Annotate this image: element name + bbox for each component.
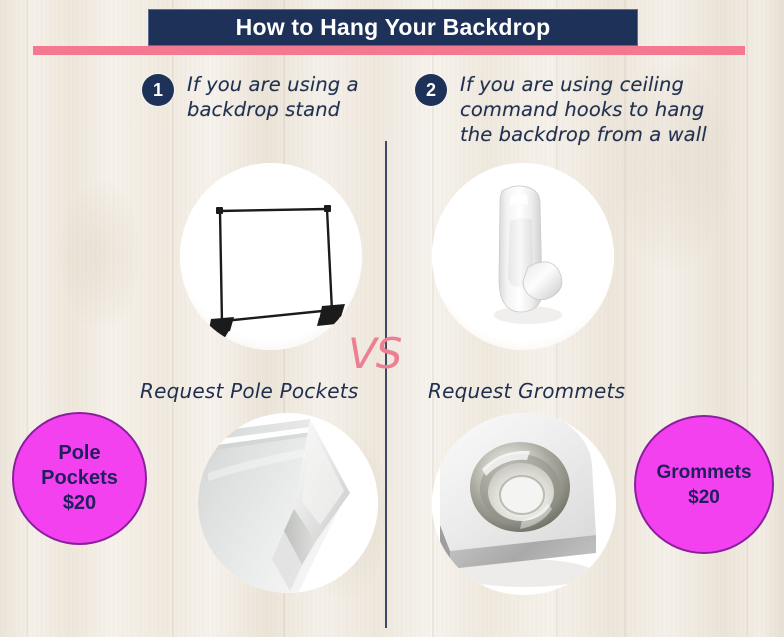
command-hook-image xyxy=(432,163,614,350)
page-title: How to Hang Your Backdrop xyxy=(236,14,551,41)
plank-seam xyxy=(746,0,748,637)
step-two-text: If you are using ceiling command hooks t… xyxy=(460,72,707,147)
plank-seam xyxy=(26,0,28,637)
caption-grommets: Request Grommets xyxy=(428,379,625,403)
step-one: 1 If you are using a backdrop stand xyxy=(142,72,359,122)
wood-knot xyxy=(60,180,140,330)
step-two: 2 If you are using ceiling command hooks… xyxy=(415,72,707,147)
price-badge-grommets[interactable]: Grommets $20 xyxy=(634,415,774,554)
step-number-badge: 1 xyxy=(142,74,174,106)
vs-label: VS xyxy=(348,333,401,375)
pole-pocket-fabric-image xyxy=(198,413,378,593)
infographic-poster: How to Hang Your Backdrop 1 If you are u… xyxy=(0,0,784,637)
step-one-text: If you are using a backdrop stand xyxy=(187,72,359,122)
step-number-badge: 2 xyxy=(415,74,447,106)
caption-pole-pockets: Request Pole Pockets xyxy=(140,379,358,403)
poster-title-bar: How to Hang Your Backdrop xyxy=(148,9,638,46)
grommet-image xyxy=(432,413,616,595)
price-badge-text: Pole Pockets $20 xyxy=(41,441,118,516)
accent-rule xyxy=(33,46,745,55)
price-badge-pole-pockets[interactable]: Pole Pockets $20 xyxy=(12,412,147,545)
vertical-divider xyxy=(385,141,387,628)
price-badge-text: Grommets $20 xyxy=(656,460,751,510)
backdrop-stand-image xyxy=(180,163,362,350)
